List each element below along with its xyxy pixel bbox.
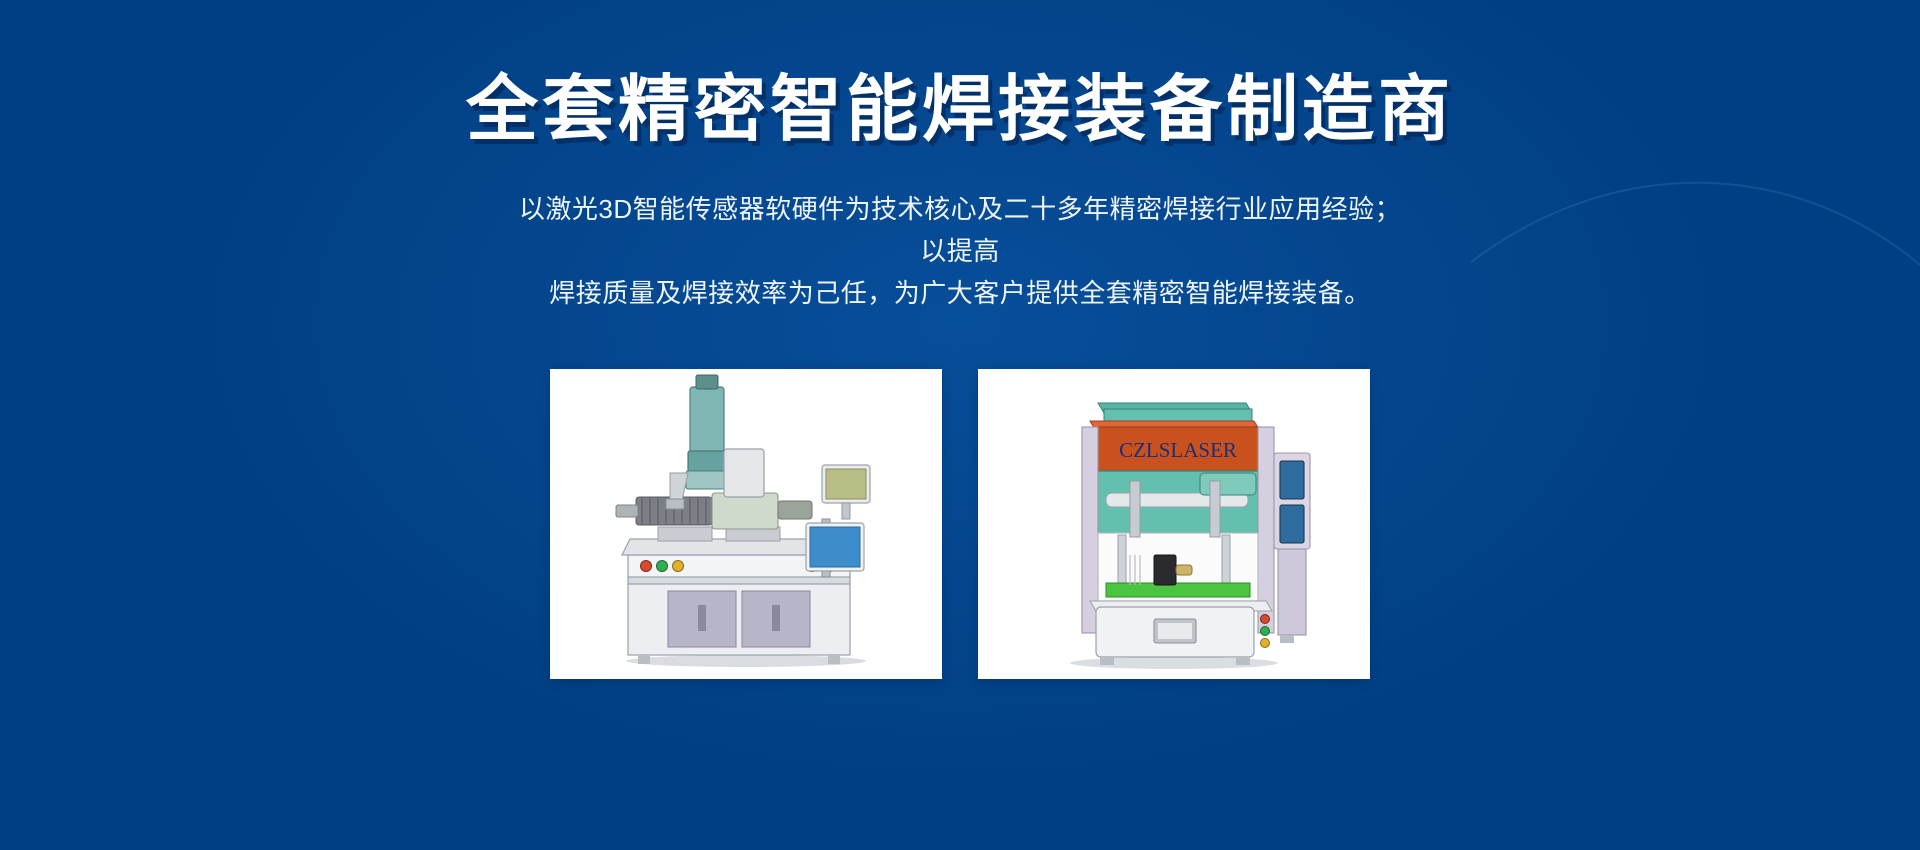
banner-stage: 全套精密智能焊接装备制造商 以激光3D智能传感器软硬件为技术核心及二十多年精密焊… xyxy=(0,0,1920,850)
product-image-gallery: 精密激光焊接工作台设备图 CZLSLASER xyxy=(0,369,1920,679)
subtitle-line-1: 以激光3D智能传感器软硬件为技术核心及二十多年精密焊接行业应用经验；以提高 xyxy=(508,188,1413,272)
machine-illustration-workstation xyxy=(550,369,942,679)
subtitle-line-2: 焊接质量及焊接效率为己任，为广大客户提供全套精密智能焊接装备。 xyxy=(508,272,1413,314)
page-title: 全套精密智能焊接装备制造商 xyxy=(0,0,1920,150)
product-card-precision-laser-welding-workstation[interactable]: 精密激光焊接工作台设备图 xyxy=(550,369,942,679)
banner-subtitle: 以激光3D智能传感器软硬件为技术核心及二十多年精密焊接行业应用经验；以提高 焊接… xyxy=(508,188,1413,314)
banner-content: 全套精密智能焊接装备制造商 以激光3D智能传感器软硬件为技术核心及二十多年精密焊… xyxy=(0,0,1920,679)
brand-logo-text: CZLSLASER xyxy=(1119,438,1237,462)
machine-illustration-cabinet: CZLSLASER xyxy=(978,369,1370,679)
product-card-cabinet-laser-welding-machine[interactable]: CZLSLASER xyxy=(978,369,1370,679)
